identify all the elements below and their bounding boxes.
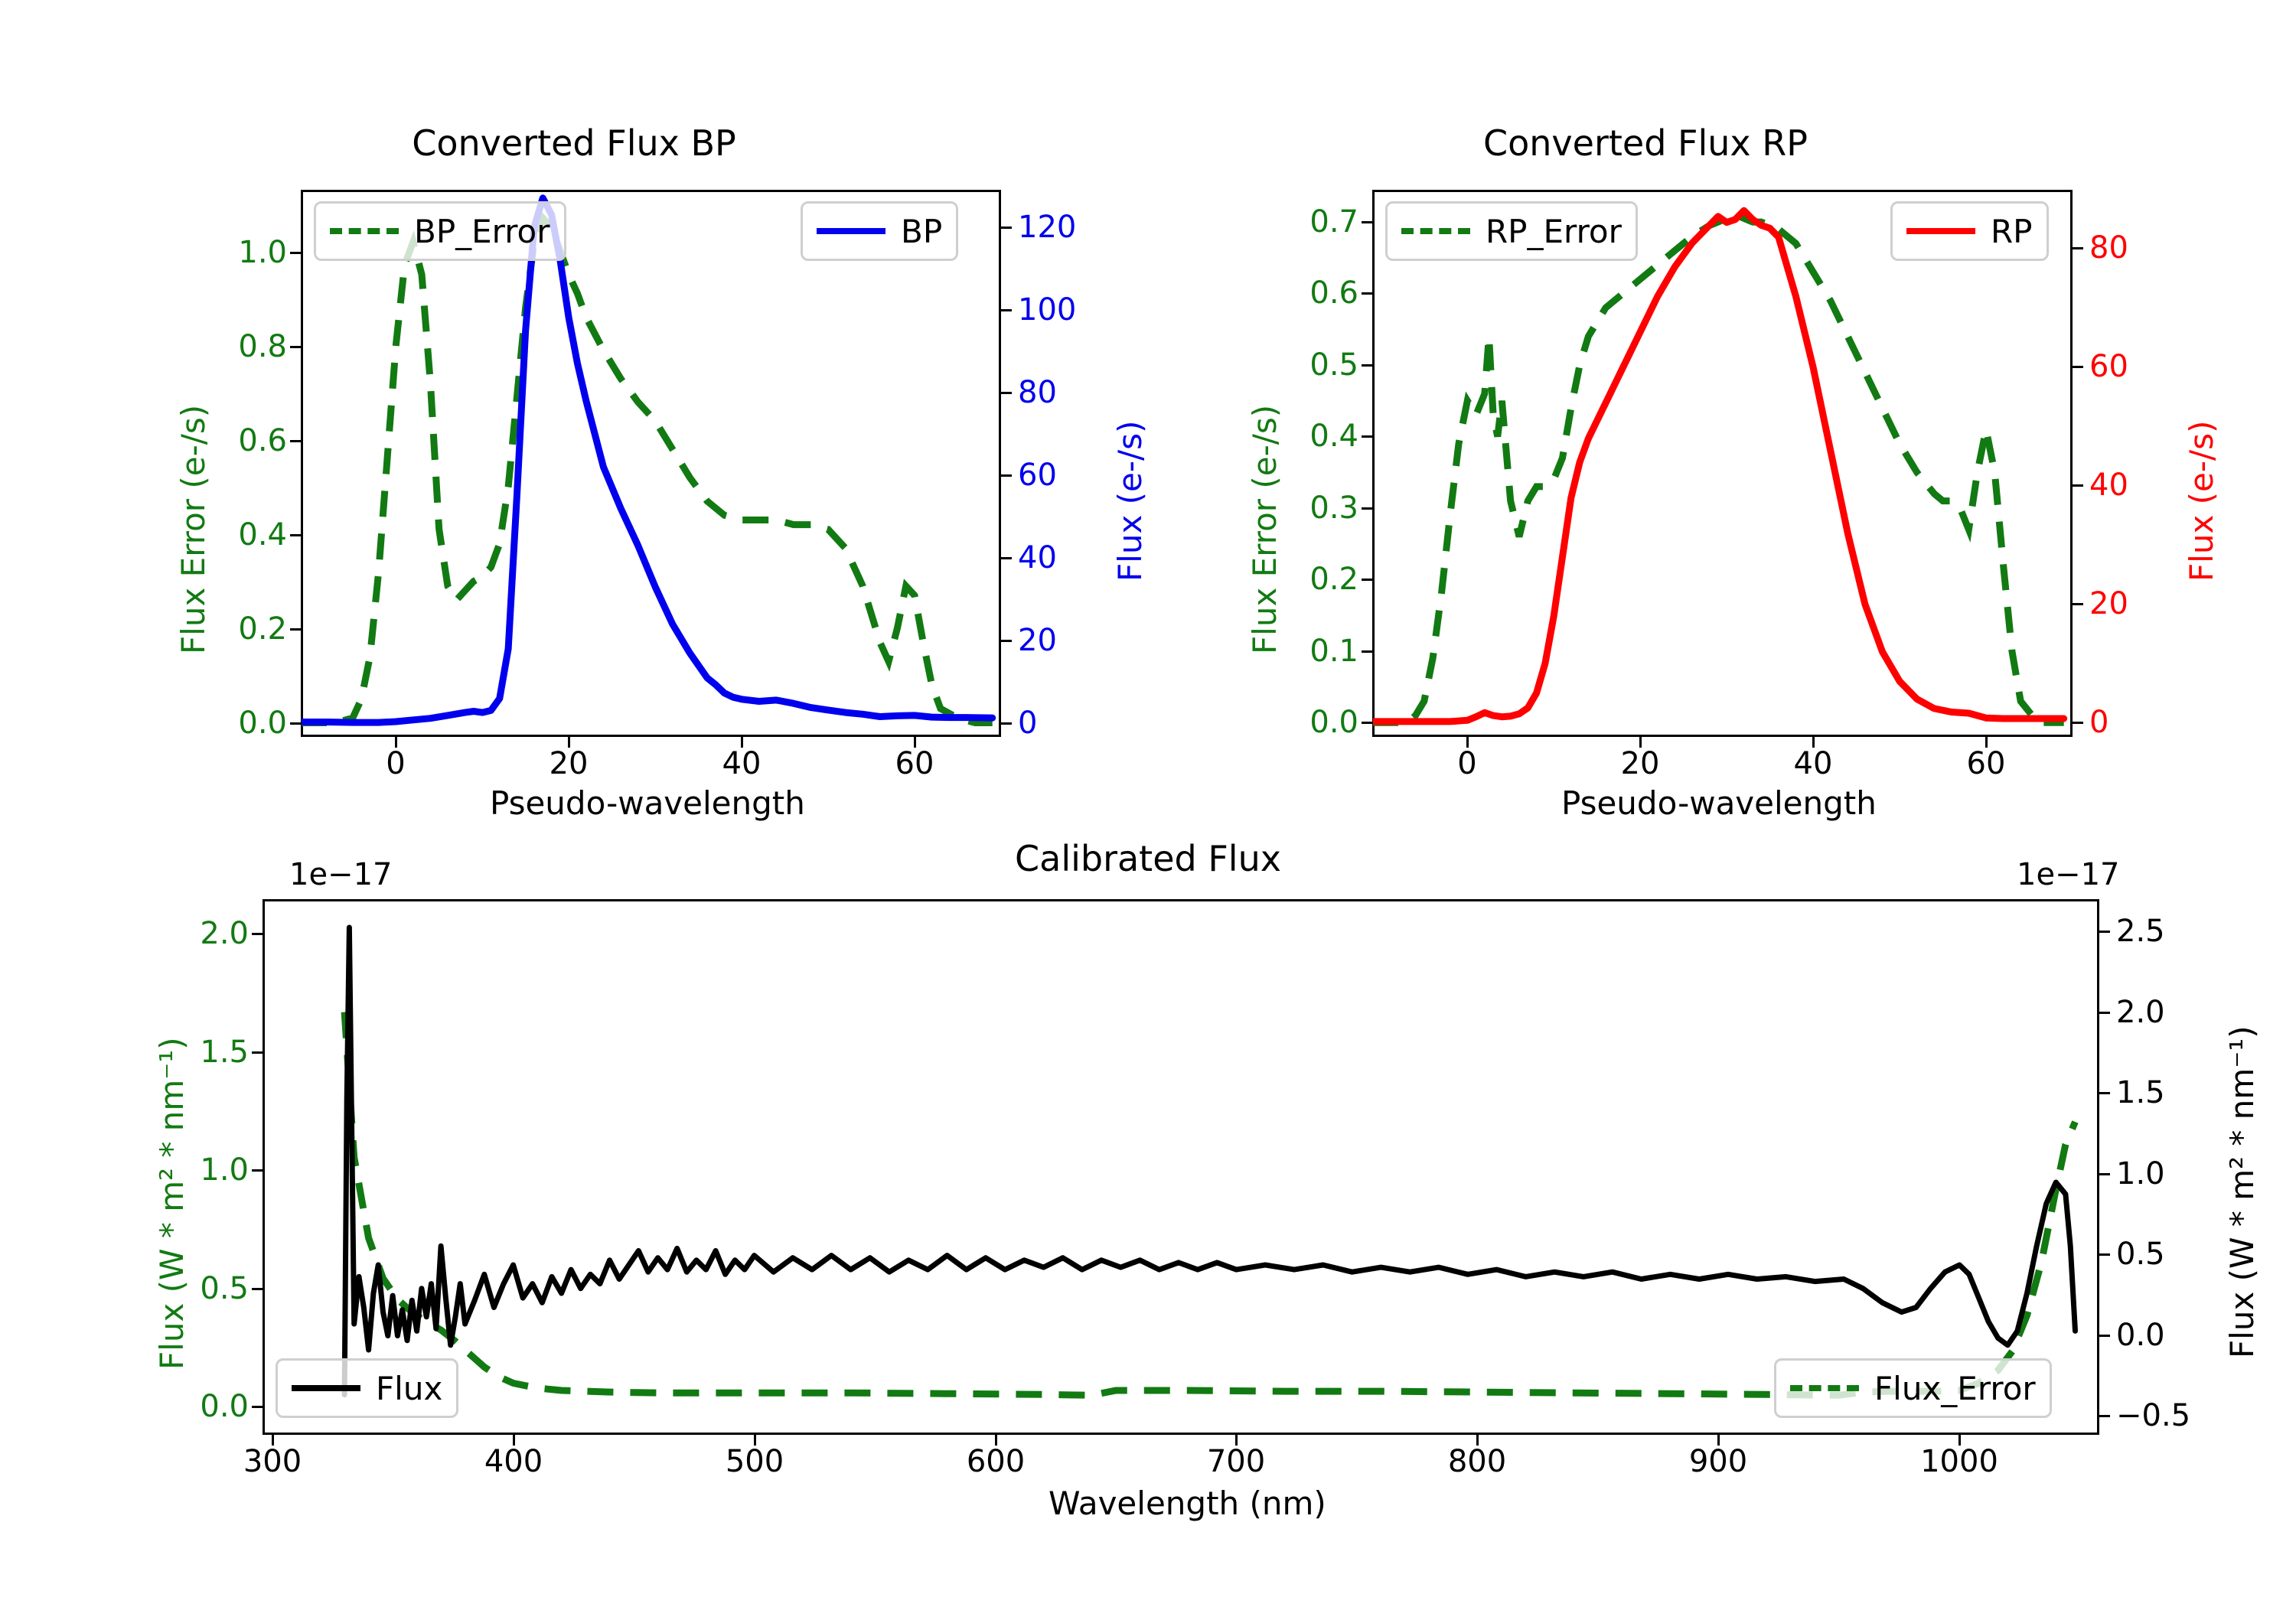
calibrated-flux-legend-label: Flux bbox=[376, 1370, 442, 1407]
calibrated-legend-error[interactable]: Flux_Error bbox=[1774, 1358, 2052, 1418]
figure-canvas: Converted Flux BP Flux Error (e-/s) Flux… bbox=[0, 0, 2296, 1607]
calibrated-error-legend-label: Flux_Error bbox=[1874, 1370, 2036, 1407]
calibrated-flux-curve bbox=[344, 927, 2075, 1395]
calibrated-legend-flux[interactable]: Flux bbox=[276, 1358, 458, 1418]
calibrated-error-curve bbox=[344, 1012, 2075, 1396]
